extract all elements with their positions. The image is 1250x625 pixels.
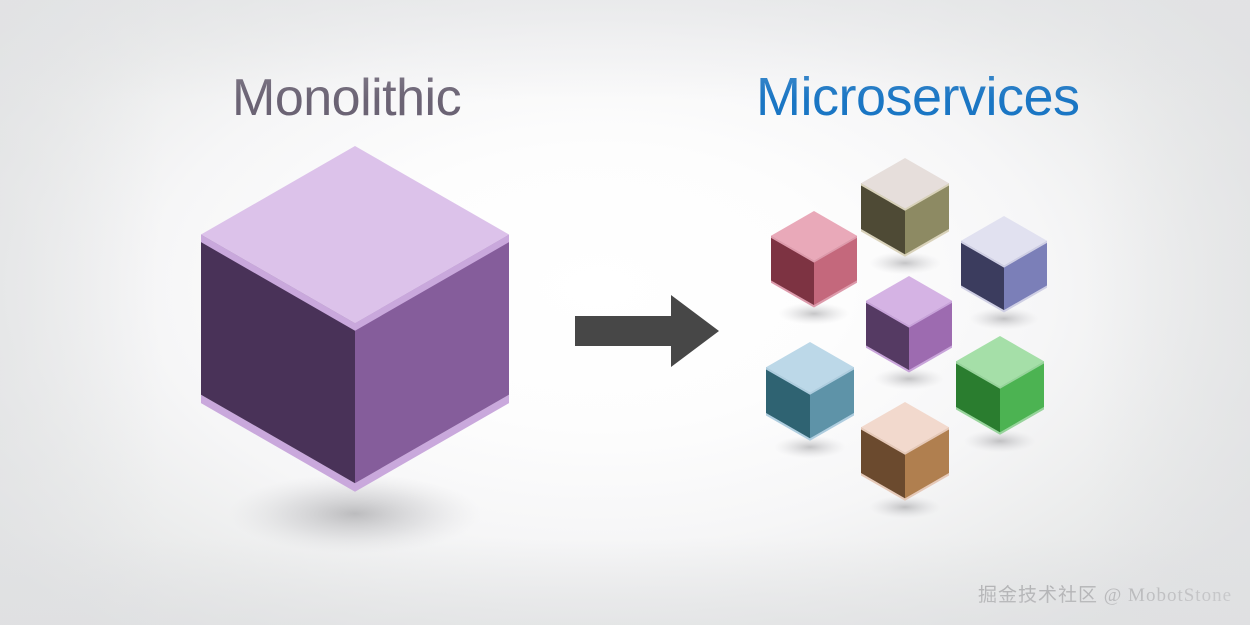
cube-teal bbox=[763, 336, 857, 460]
monolithic-cube-svg bbox=[198, 140, 512, 540]
cube-olive bbox=[858, 152, 952, 276]
cube-navy-svg bbox=[958, 210, 1050, 332]
diagram-canvas: Monolithic Microservices bbox=[0, 0, 1250, 625]
monolithic-cube bbox=[198, 140, 512, 540]
cube-green bbox=[953, 330, 1047, 454]
cube-pink-svg bbox=[768, 205, 860, 327]
cube-purple bbox=[863, 270, 955, 392]
cube-pink bbox=[768, 205, 860, 327]
cube-purple-svg bbox=[863, 270, 955, 392]
cube-navy bbox=[958, 210, 1050, 332]
cube-olive-svg bbox=[858, 152, 952, 276]
cube-brown-svg bbox=[858, 396, 952, 520]
cube-teal-svg bbox=[763, 336, 857, 460]
right-arrow-icon bbox=[573, 292, 721, 375]
cube-brown bbox=[858, 396, 952, 520]
page-title-microservices: Microservices bbox=[756, 66, 1080, 128]
page-title-monolithic: Monolithic bbox=[232, 68, 461, 128]
watermark-text: 掘金技术社区 @ MobotStone bbox=[978, 580, 1232, 607]
cube-green-svg bbox=[953, 330, 1047, 454]
